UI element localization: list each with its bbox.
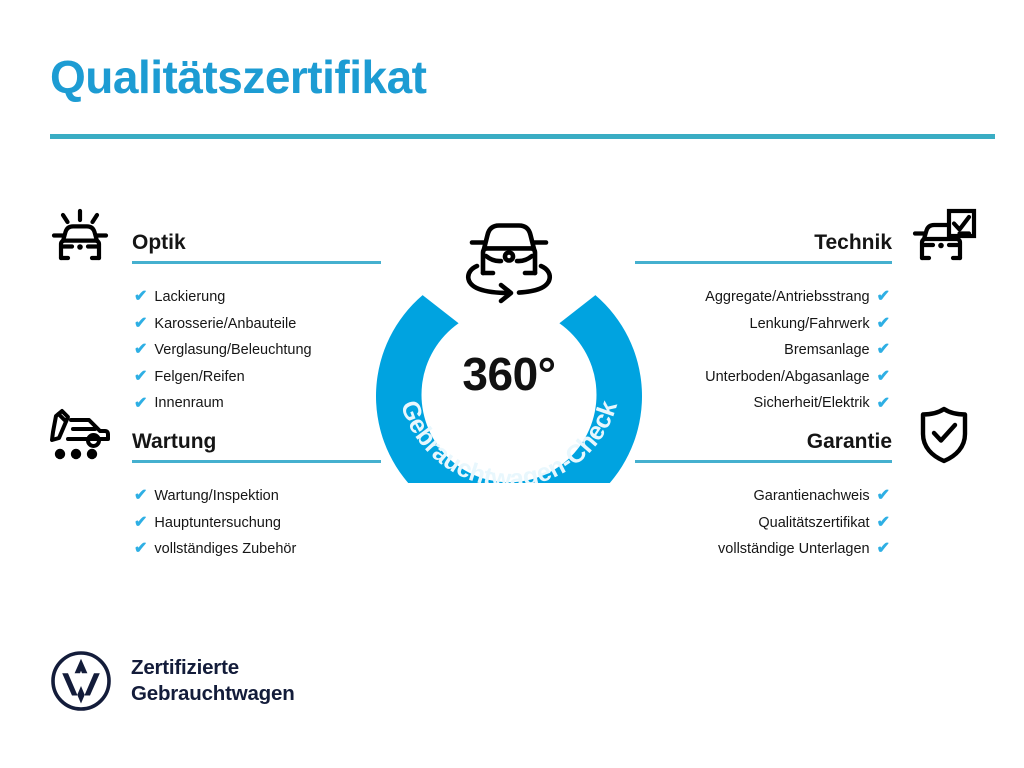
section-header: Garantie <box>635 404 980 472</box>
list-item-label: Qualitätszertifikat <box>758 516 869 531</box>
car-shine-icon <box>44 205 116 267</box>
list-item-label: Garantienachweis <box>754 489 870 504</box>
section-header: Wartung <box>44 404 389 472</box>
footer-line-2: Gebrauchtwagen <box>131 681 295 707</box>
list-item: ✔Karosserie/Anbauteile <box>44 311 389 338</box>
check-icon: ✔ <box>877 369 890 385</box>
car-service-book-icon <box>44 404 116 466</box>
check-icon: ✔ <box>877 342 890 358</box>
section-title: Wartung <box>132 430 381 460</box>
check-icon: ✔ <box>134 488 147 504</box>
list-item-label: Felgen/Reifen <box>154 370 244 385</box>
section-underline <box>635 261 892 264</box>
list-item: Bremsanlage✔ <box>635 337 980 364</box>
checklist-wartung: ✔Wartung/Inspektion ✔Hauptuntersuchung ✔… <box>44 483 389 563</box>
check-icon: ✔ <box>877 316 890 332</box>
section-header: Technik <box>635 205 980 273</box>
list-item: ✔Hauptuntersuchung <box>44 510 389 537</box>
section-title: Technik <box>635 231 892 261</box>
list-item-label: Karosserie/Anbauteile <box>154 317 296 332</box>
section-garantie: Garantie Garantienachweis✔ Qualitätszert… <box>635 404 980 563</box>
section-underline <box>635 460 892 463</box>
checklist-technik: Aggregate/Antriebsstrang✔ Lenkung/Fahrwe… <box>635 284 980 417</box>
section-underline <box>132 261 381 264</box>
list-item-label: Aggregate/Antriebsstrang <box>705 290 869 305</box>
section-header: Optik <box>44 205 389 273</box>
list-item: Aggregate/Antriebsstrang✔ <box>635 284 980 311</box>
list-item-label: Unterboden/Abgasanlage <box>705 370 869 385</box>
page-title: Qualitätszertifikat <box>50 52 427 103</box>
list-item-label: vollständiges Zubehör <box>154 542 296 557</box>
list-item: ✔Lackierung <box>44 284 389 311</box>
list-item: Garantienachweis✔ <box>635 483 980 510</box>
check-icon: ✔ <box>134 316 147 332</box>
section-technik: Technik Aggregate/Antriebsstrang✔ Lenkun… <box>635 205 980 417</box>
list-item: Unterboden/Abgasanlage✔ <box>635 364 980 391</box>
section-title-wrap: Garantie <box>635 430 892 463</box>
car-checkbox-icon <box>908 205 980 267</box>
section-title: Optik <box>132 231 381 261</box>
list-item: ✔Felgen/Reifen <box>44 364 389 391</box>
volkswagen-logo-icon <box>50 650 112 712</box>
section-optik: Optik ✔Lackierung ✔Karosserie/Anbauteile… <box>44 205 389 417</box>
check-icon: ✔ <box>877 515 890 531</box>
check-icon: ✔ <box>134 515 147 531</box>
list-item-label: Lackierung <box>154 290 225 305</box>
section-wartung: Wartung ✔Wartung/Inspektion ✔Hauptunters… <box>44 404 389 563</box>
certificate-page: Qualitätszertifikat <box>0 0 1024 768</box>
check-icon: ✔ <box>134 369 147 385</box>
footer-brand-text: Zertifizierte Gebrauchtwagen <box>131 655 295 707</box>
check-icon: ✔ <box>877 541 890 557</box>
title-divider <box>50 134 995 139</box>
section-title-wrap: Optik <box>132 231 381 264</box>
list-item: ✔Wartung/Inspektion <box>44 483 389 510</box>
footer-line-1: Zertifizierte <box>131 655 295 681</box>
shield-check-icon <box>908 404 980 466</box>
list-item-label: vollständige Unterlagen <box>718 542 870 557</box>
section-title: Garantie <box>635 430 892 460</box>
check-icon: ✔ <box>134 342 147 358</box>
list-item: ✔vollständiges Zubehör <box>44 536 389 563</box>
badge-center-value: 360° <box>370 347 648 401</box>
check-icon: ✔ <box>134 289 147 305</box>
checklist-optik: ✔Lackierung ✔Karosserie/Anbauteile ✔Verg… <box>44 284 389 417</box>
list-item: ✔Verglasung/Beleuchtung <box>44 337 389 364</box>
list-item-label: Bremsanlage <box>784 343 869 358</box>
list-item-label: Wartung/Inspektion <box>154 489 278 504</box>
list-item-label: Lenkung/Fahrwerk <box>750 317 870 332</box>
checklist-garantie: Garantienachweis✔ Qualitätszertifikat✔ v… <box>635 483 980 563</box>
check-icon: ✔ <box>877 289 890 305</box>
list-item-label: Hauptuntersuchung <box>154 516 281 531</box>
list-item: vollständige Unterlagen✔ <box>635 536 980 563</box>
list-item: Qualitätszertifikat✔ <box>635 510 980 537</box>
check-icon: ✔ <box>134 541 147 557</box>
list-item: Lenkung/Fahrwerk✔ <box>635 311 980 338</box>
badge-360-check: Gebrauchtwagen-Check <box>370 195 648 483</box>
footer-brand: Zertifizierte Gebrauchtwagen <box>50 650 295 712</box>
list-item-label: Verglasung/Beleuchtung <box>154 343 311 358</box>
section-title-wrap: Wartung <box>132 430 381 463</box>
car-rotate-360-icon <box>468 226 550 302</box>
section-title-wrap: Technik <box>635 231 892 264</box>
section-underline <box>132 460 381 463</box>
check-icon: ✔ <box>877 488 890 504</box>
